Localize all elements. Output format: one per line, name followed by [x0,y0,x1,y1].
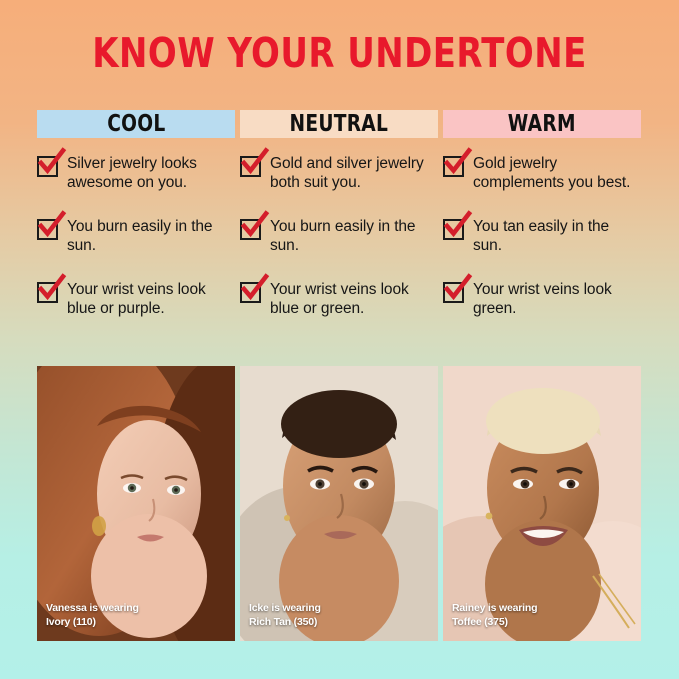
checkbox[interactable] [443,156,464,177]
caption-line-1: Icke is wearing [249,602,321,615]
checklist-neutral: Gold and silver jewelry both suit you. Y… [240,154,438,318]
title-bar: KNOW YOUR UNDERTONE [0,0,679,74]
model-photo-warm: Rainey is wearing Toffee (375) [443,366,641,641]
caption-line-1: Rainey is wearing [452,602,537,615]
caption-line-2: Toffee (375) [452,616,537,629]
checkbox[interactable] [37,219,58,240]
checklist-item-label: Silver jewelry looks awesome on you. [67,154,232,193]
column-header-neutral: NEUTRAL [240,110,438,138]
column-label-warm: WARM [508,111,576,137]
caption-line-1: Vanessa is wearing [46,602,139,615]
page-title: KNOW YOUR UNDERTONE [27,33,652,74]
checkbox[interactable] [240,156,261,177]
photo-caption-warm: Rainey is wearing Toffee (375) [452,602,537,629]
model-photo-row: Vanessa is wearing Ivory (110) [37,366,642,641]
caption-line-2: Ivory (110) [46,616,139,629]
check-mark-icon [38,275,66,303]
checkbox[interactable] [443,219,464,240]
column-header-warm: WARM [443,110,641,138]
check-mark-icon [444,149,472,177]
checklist-item[interactable]: Silver jewelry looks awesome on you. [37,154,235,193]
checklist-warm: Gold jewelry complements you best. You t… [443,154,641,318]
checklist-item[interactable]: Gold and silver jewelry both suit you. [240,154,438,193]
check-mark-icon [444,212,472,240]
checkbox[interactable] [37,156,58,177]
column-label-neutral: NEUTRAL [290,111,389,137]
caption-line-2: Rich Tan (350) [249,616,321,629]
photo-caption-neutral: Icke is wearing Rich Tan (350) [249,602,321,629]
column-cool: COOL Silver jewelry looks awesome on you… [37,110,235,318]
checkbox[interactable] [240,219,261,240]
model-portrait-rainey [443,366,641,641]
checklist-item-label: You burn easily in the sun. [67,217,232,256]
column-warm: WARM Gold jewelry complements you best. … [443,110,641,318]
checklist-item[interactable]: You burn easily in the sun. [37,217,235,256]
check-mark-icon [444,275,472,303]
photo-caption-cool: Vanessa is wearing Ivory (110) [46,602,139,629]
checkbox[interactable] [240,282,261,303]
model-portrait-vanessa [37,366,235,641]
checkbox[interactable] [443,282,464,303]
checklist-cool: Silver jewelry looks awesome on you. You… [37,154,235,318]
model-photo-cool: Vanessa is wearing Ivory (110) [37,366,235,641]
check-mark-icon [38,212,66,240]
check-mark-icon [241,149,269,177]
checklist-item[interactable]: You tan easily in the sun. [443,217,641,256]
checklist-item[interactable]: Your wrist veins look blue or purple. [37,280,235,319]
checklist-item[interactable]: Gold jewelry complements you best. [443,154,641,193]
checklist-item[interactable]: You burn easily in the sun. [240,217,438,256]
checklist-item-label: Gold and silver jewelry both suit you. [270,154,435,193]
undertone-columns: COOL Silver jewelry looks awesome on you… [37,110,642,318]
checklist-item-label: You burn easily in the sun. [270,217,435,256]
checklist-item[interactable]: Your wrist veins look green. [443,280,641,319]
checklist-item-label: Your wrist veins look green. [473,280,638,319]
check-mark-icon [38,149,66,177]
column-header-cool: COOL [37,110,235,138]
model-photo-neutral: Icke is wearing Rich Tan (350) [240,366,438,641]
checklist-item[interactable]: Your wrist veins look blue or green. [240,280,438,319]
checklist-item-label: Gold jewelry complements you best. [473,154,638,193]
check-mark-icon [241,212,269,240]
checklist-item-label: Your wrist veins look blue or green. [270,280,435,319]
checklist-item-label: Your wrist veins look blue or purple. [67,280,232,319]
check-mark-icon [241,275,269,303]
checklist-item-label: You tan easily in the sun. [473,217,638,256]
column-neutral: NEUTRAL Gold and silver jewelry both sui… [240,110,438,318]
checkbox[interactable] [37,282,58,303]
model-portrait-icke [240,366,438,641]
column-label-cool: COOL [107,111,165,137]
